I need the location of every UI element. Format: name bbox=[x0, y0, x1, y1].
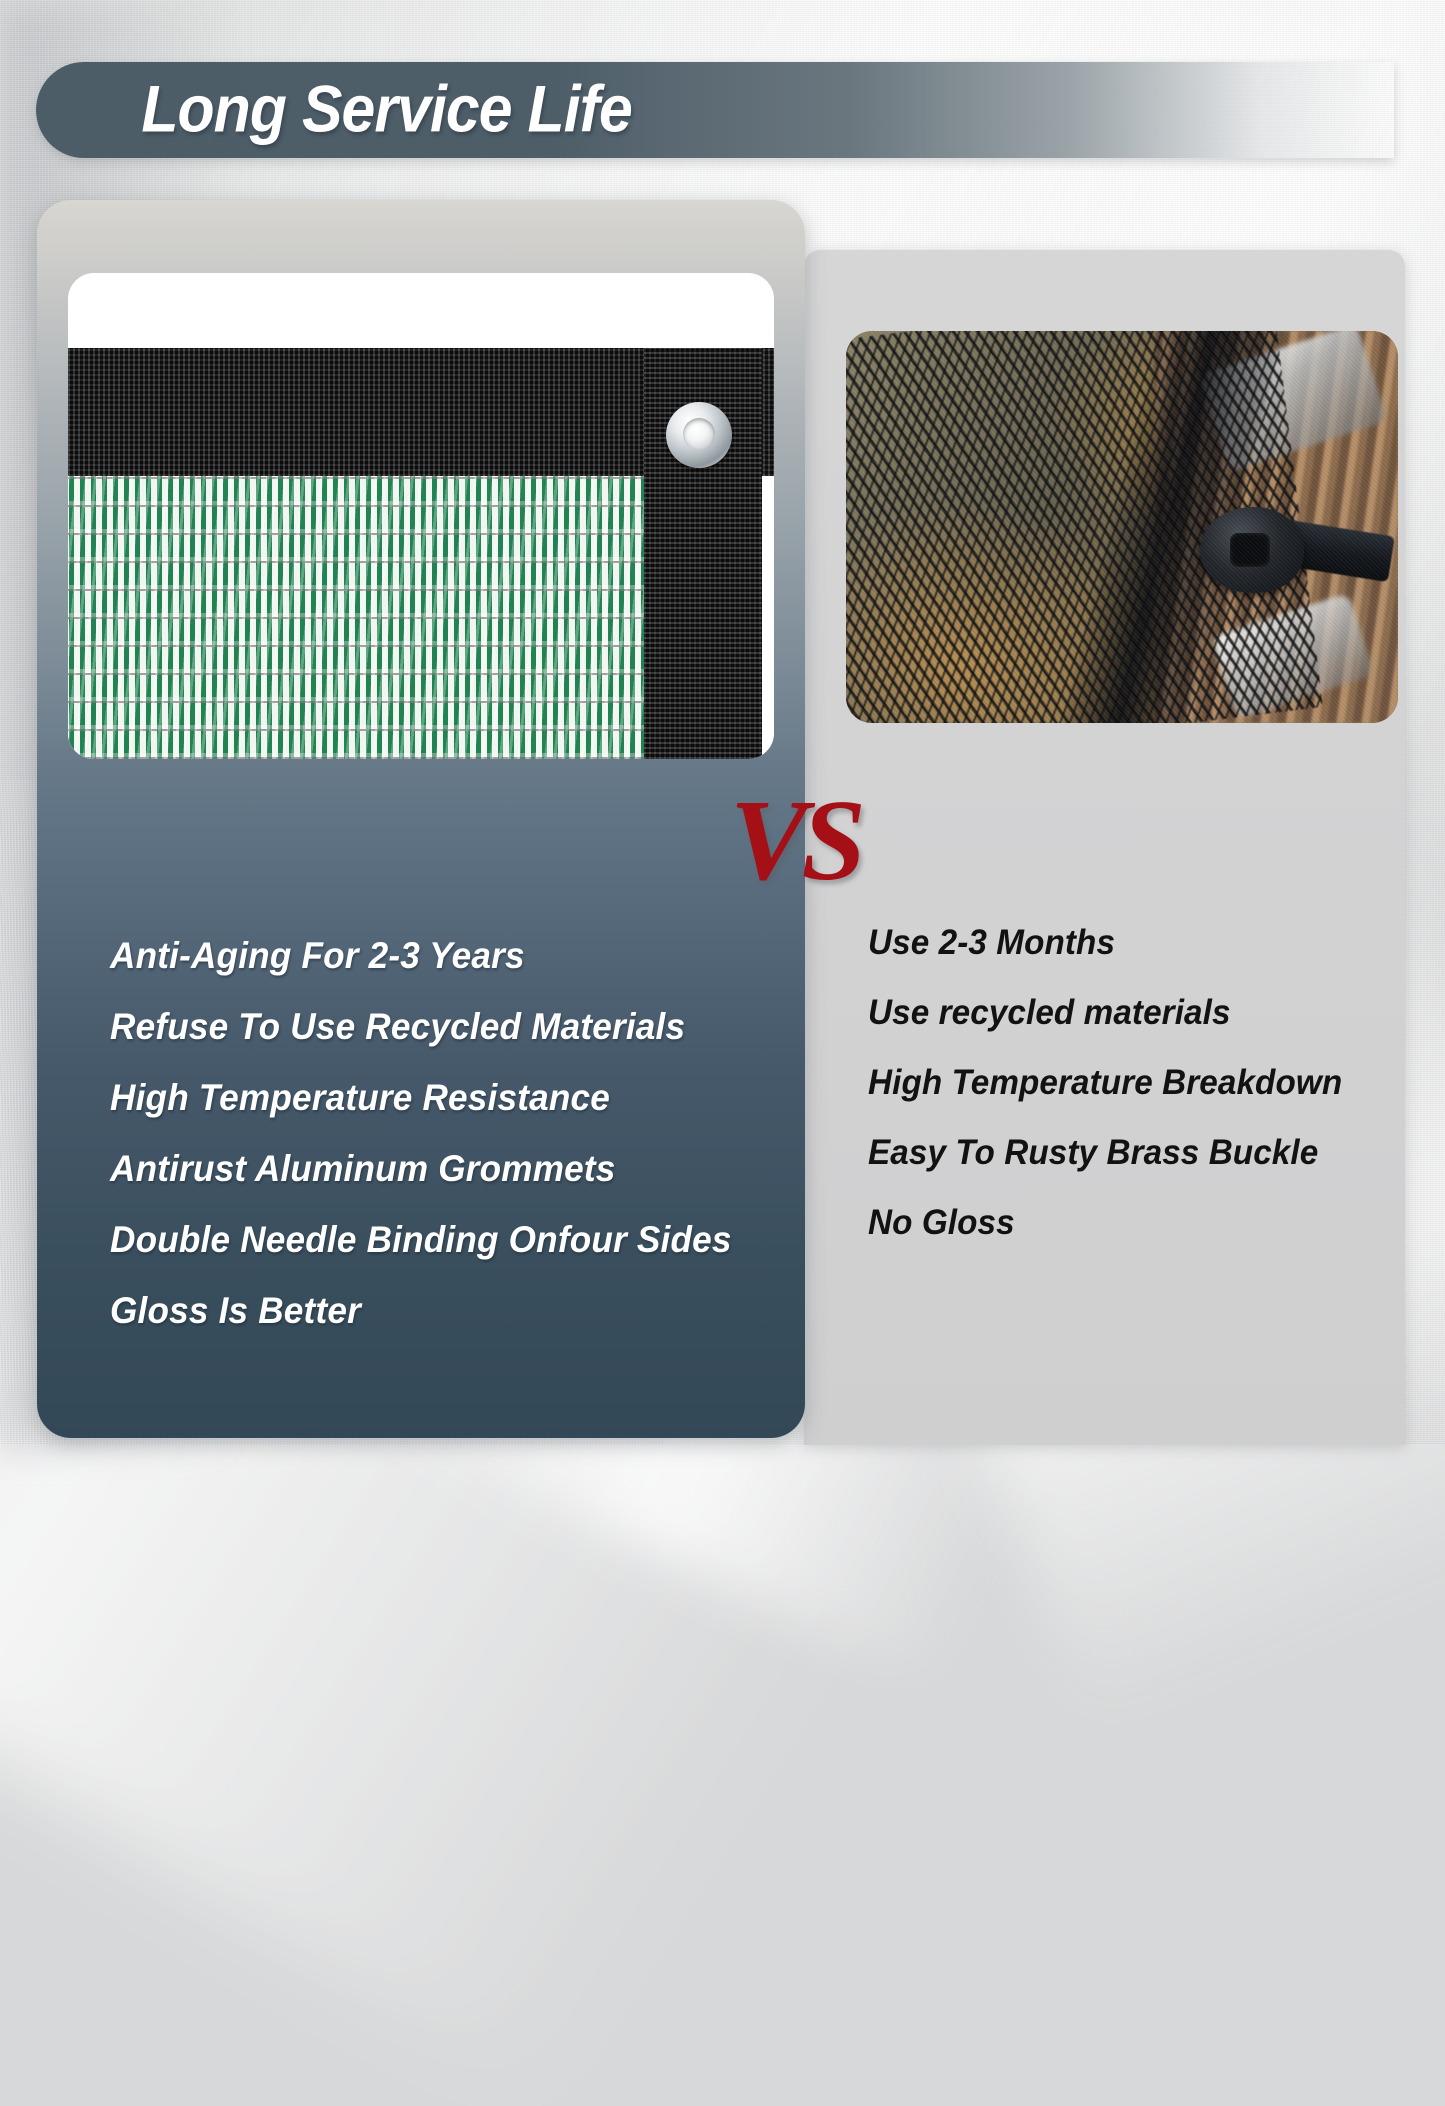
page-title-text: Long Service Life bbox=[141, 70, 631, 146]
aluminum-grommet-icon bbox=[666, 402, 732, 468]
photo-grain bbox=[846, 331, 1398, 723]
list-item: High Temperature Resistance bbox=[110, 1062, 790, 1133]
list-item: Use recycled materials bbox=[868, 978, 1428, 1048]
list-item: Anti-Aging For 2-3 Years bbox=[110, 920, 790, 991]
vs-badge: VS bbox=[730, 783, 860, 899]
mesh-sheen bbox=[68, 476, 654, 759]
competitor-feature-list: Use 2-3 Months Use recycled materials Hi… bbox=[868, 908, 1428, 1258]
header-banner: Long Service Life bbox=[36, 62, 1394, 158]
list-item: Easy To Rusty Brass Buckle bbox=[868, 1118, 1428, 1188]
competitor-photo bbox=[846, 331, 1398, 723]
green-shade-net-mesh bbox=[68, 476, 654, 759]
list-item: Antirust Aluminum Grommets bbox=[110, 1133, 790, 1204]
vs-label: VS bbox=[730, 777, 860, 905]
list-item: Double Needle Binding Onfour Sides bbox=[110, 1204, 790, 1275]
list-item: Refuse To Use Recycled Materials bbox=[110, 991, 790, 1062]
list-item: High Temperature Breakdown bbox=[868, 1048, 1428, 1118]
feature-text: Anti-Aging For 2-3 Years bbox=[110, 920, 525, 991]
feature-text: Use 2-3 Months bbox=[868, 908, 1115, 978]
product-photo bbox=[68, 348, 774, 759]
feature-text: Antirust Aluminum Grommets bbox=[110, 1133, 616, 1204]
feature-text: High Temperature Breakdown bbox=[868, 1048, 1342, 1118]
feature-text: High Temperature Resistance bbox=[110, 1062, 610, 1133]
feature-text: Gloss Is Better bbox=[110, 1275, 361, 1346]
list-item: Use 2-3 Months bbox=[868, 908, 1428, 978]
feature-text: Easy To Rusty Brass Buckle bbox=[868, 1118, 1318, 1188]
feature-text: No Gloss bbox=[868, 1188, 1015, 1258]
our-product-feature-list: Anti-Aging For 2-3 Years Refuse To Use R… bbox=[110, 920, 790, 1346]
feature-text: Refuse To Use Recycled Materials bbox=[110, 991, 685, 1062]
feature-text: Double Needle Binding Onfour Sides bbox=[110, 1204, 732, 1275]
product-photo-card bbox=[68, 273, 774, 759]
page-title: Long Service Life bbox=[120, 70, 653, 146]
feature-text: Use recycled materials bbox=[868, 978, 1231, 1048]
list-item: Gloss Is Better bbox=[110, 1275, 790, 1346]
list-item: No Gloss bbox=[868, 1188, 1428, 1258]
